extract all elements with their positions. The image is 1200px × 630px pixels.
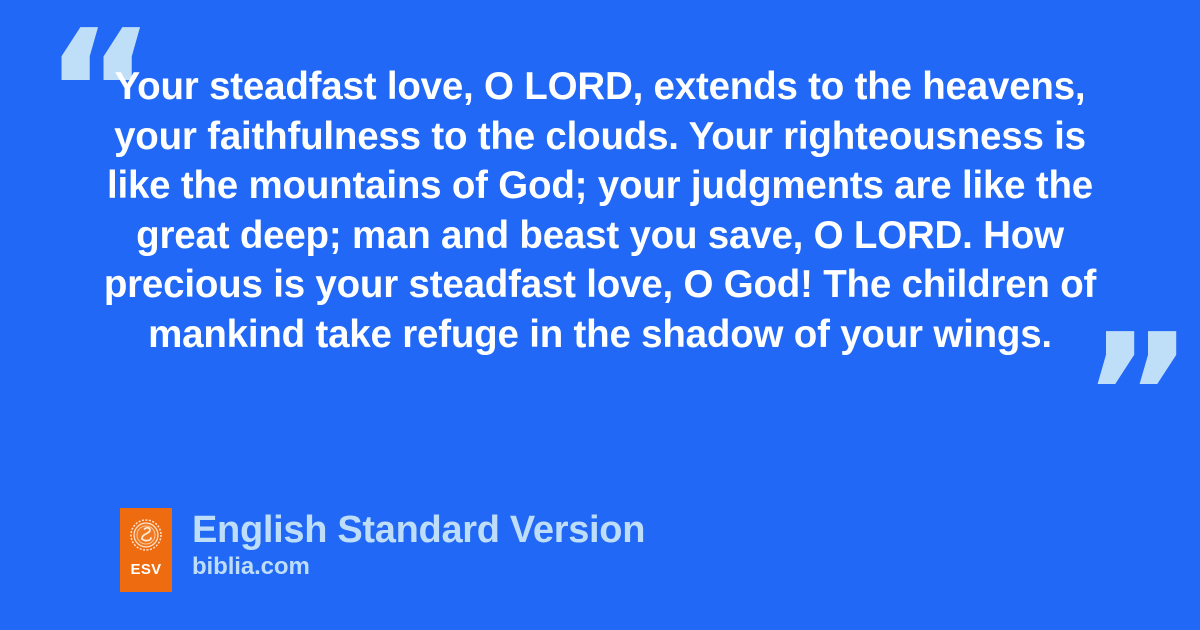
closing-quote-icon: ” bbox=[1082, 312, 1194, 482]
verse-text: Your steadfast love, O LORD, extends to … bbox=[100, 62, 1100, 359]
site-url[interactable]: biblia.com bbox=[192, 553, 645, 581]
esv-seal-icon bbox=[130, 519, 162, 551]
bible-version-title: English Standard Version bbox=[192, 508, 645, 552]
verse-text-block: Your steadfast love, O LORD, extends to … bbox=[100, 62, 1100, 359]
esv-logo[interactable]: ESV bbox=[120, 508, 172, 592]
esv-logo-label: ESV bbox=[131, 562, 162, 577]
verse-card: “ Your steadfast love, O LORD, extends t… bbox=[0, 0, 1200, 630]
brand-lockup[interactable]: ESV English Standard Version biblia.com bbox=[120, 508, 645, 592]
brand-text-group: English Standard Version biblia.com bbox=[192, 508, 645, 581]
